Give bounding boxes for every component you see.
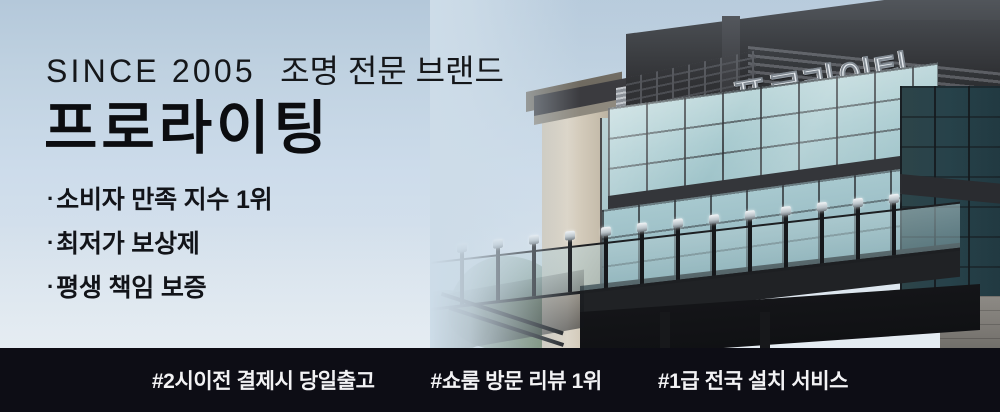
bullet-dot-icon: · xyxy=(47,276,54,298)
list-item-label: 평생 책임 보증 xyxy=(56,274,206,302)
deck-support-post xyxy=(660,312,670,352)
railing-lamp-post xyxy=(784,213,788,267)
bullet-dot-icon: · xyxy=(47,188,54,210)
eyebrow-line: SINCE 2005 조명 전문 브랜드 xyxy=(46,46,504,92)
promo-tag-nationwide-install[interactable]: #1급 전국 설치 서비스 xyxy=(658,365,848,395)
list-item: ·평생 책임 보증 xyxy=(47,276,272,301)
railing-lamp-post xyxy=(856,205,860,259)
promo-tag-showroom-review[interactable]: #쇼룸 방문 리뷰 1위 xyxy=(431,365,602,395)
railing-lamp-post xyxy=(712,221,716,275)
railing-lamp-post xyxy=(604,234,608,288)
list-item-label: 소비자 만족 지수 1위 xyxy=(56,186,272,214)
promo-tag-same-day-shipping[interactable]: #2시이전 결제시 당일출고 xyxy=(152,365,375,395)
list-item-label: 최저가 보상제 xyxy=(56,230,200,258)
page-title: 프로라이팅 xyxy=(44,96,331,163)
headline-copy-block: SINCE 2005 조명 전문 브랜드 프로라이팅 ·소비자 만족 지수 1위… xyxy=(44,0,604,348)
railing-lamp-post xyxy=(640,230,644,284)
promo-banner: 프로라이팅 xyxy=(0,0,1000,412)
list-item: ·최저가 보상제 xyxy=(47,232,272,257)
railing-lamp-post xyxy=(820,209,824,263)
bottom-tag-bar: #2시이전 결제시 당일출고 #쇼룸 방문 리뷰 1위 #1급 전국 설치 서비… xyxy=(0,348,1000,412)
railing-lamp-post xyxy=(676,226,680,280)
railing-lamp-post xyxy=(748,217,752,271)
list-item: ·소비자 만족 지수 1위 xyxy=(47,188,272,213)
railing-lamp-post xyxy=(892,201,896,255)
benefit-list: ·소비자 만족 지수 1위 ·최저가 보상제 ·평생 책임 보증 xyxy=(47,188,272,320)
deck-support-post xyxy=(760,312,770,352)
eyebrow-since-text: SINCE 2005 xyxy=(46,53,256,89)
bullet-dot-icon: · xyxy=(47,232,54,254)
eyebrow-korean-text: 조명 전문 브랜드 xyxy=(280,53,504,89)
